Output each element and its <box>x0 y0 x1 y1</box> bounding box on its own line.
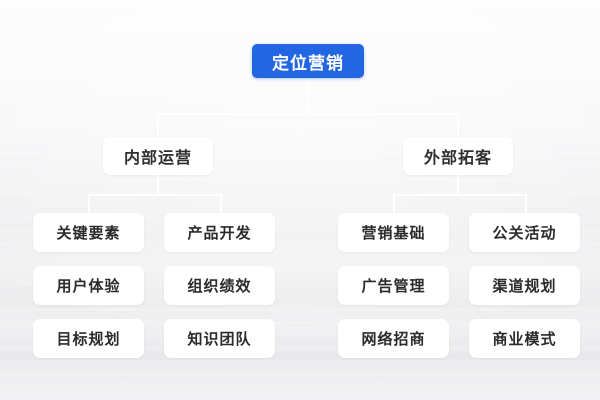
connector-left-branch-bus <box>88 194 222 196</box>
leaf-node-marketing-fundamentals[interactable]: 营销基础 <box>338 213 449 252</box>
diagram-canvas: 定位营销 内部运营 外部拓客 关键要素 用户体验 目标规划 产品开发 组织绩效 … <box>0 0 600 400</box>
connector-right-branch-stem <box>457 175 459 195</box>
connector-right-col1-drop <box>393 194 395 214</box>
root-node[interactable]: 定位营销 <box>252 44 364 78</box>
leaf-node-key-elements[interactable]: 关键要素 <box>33 213 144 252</box>
leaf-node-channel-planning[interactable]: 渠道规划 <box>469 266 580 305</box>
leaf-node-online-investment[interactable]: 网络招商 <box>338 319 449 358</box>
leaf-node-business-model[interactable]: 商业模式 <box>469 319 580 358</box>
connector-root-stem <box>307 78 309 114</box>
branch-node-external-acquisition[interactable]: 外部拓客 <box>403 137 513 175</box>
connector-left-branch-stem <box>157 175 159 195</box>
leaf-node-advertising-management[interactable]: 广告管理 <box>338 266 449 305</box>
leaf-node-product-development[interactable]: 产品开发 <box>164 213 275 252</box>
connector-left-col1-drop <box>88 194 90 214</box>
connector-root-bus <box>157 113 459 115</box>
connector-branch-right-drop <box>457 113 459 137</box>
connector-right-branch-bus <box>393 194 527 196</box>
connector-right-col2-drop <box>525 194 527 214</box>
connector-branch-left-drop <box>157 113 159 137</box>
branch-node-internal-operations[interactable]: 内部运营 <box>103 137 213 175</box>
leaf-node-goal-planning[interactable]: 目标规划 <box>33 319 144 358</box>
leaf-node-pr-activities[interactable]: 公关活动 <box>469 213 580 252</box>
leaf-node-user-experience[interactable]: 用户体验 <box>33 266 144 305</box>
leaf-node-knowledge-team[interactable]: 知识团队 <box>164 319 275 358</box>
leaf-node-organizational-performance[interactable]: 组织绩效 <box>164 266 275 305</box>
connector-left-col2-drop <box>220 194 222 214</box>
